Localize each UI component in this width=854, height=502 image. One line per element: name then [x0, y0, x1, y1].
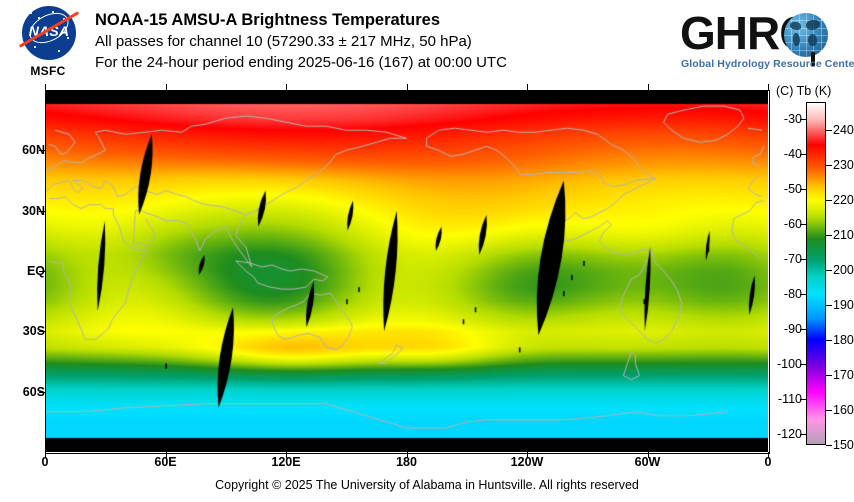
longitude-tick-label: 0 — [765, 455, 772, 469]
colorbar-kelvin-tick — [826, 410, 832, 411]
colorbar-kelvin-tick — [826, 375, 832, 376]
colorbar-celsius-tick — [800, 399, 806, 400]
longitude-tick-mark — [45, 452, 46, 458]
colorbar-celsius-label: -120 — [777, 427, 802, 441]
colorbar-celsius-tick — [800, 224, 806, 225]
colorbar-celsius-tick — [800, 294, 806, 295]
latitude-tick-mark — [39, 271, 45, 272]
colorbar: (C) Tb (K) 24023022021020019018017016015… — [776, 84, 854, 464]
colorbar-kelvin-label: 240 — [833, 123, 854, 137]
page-header: NASA MSFC NOAA-15 AMSU-A Brightness Temp… — [0, 0, 854, 88]
colorbar-celsius-tick — [800, 154, 806, 155]
colorbar-celsius-tick — [800, 119, 806, 120]
latitude-tick-mark — [39, 392, 45, 393]
brightness-temperature-heatmap[interactable] — [45, 90, 768, 452]
colorbar-celsius-label: -100 — [777, 357, 802, 371]
colorbar-celsius-tick — [800, 259, 806, 260]
title-block: NOAA-15 AMSU-A Brightness Temperatures A… — [95, 9, 507, 73]
latitude-tick-mark — [39, 331, 45, 332]
colorbar-kelvin-label: 200 — [833, 263, 854, 277]
page-title: NOAA-15 AMSU-A Brightness Temperatures — [95, 9, 507, 31]
longitude-tick-mark — [407, 452, 408, 458]
longitude-tick-label: 180 — [396, 455, 417, 469]
colorbar-kelvin-tick — [826, 305, 832, 306]
longitude-tick-mark — [527, 452, 528, 458]
colorbar-kelvin-tick — [826, 235, 832, 236]
colorbar-kelvin-tick — [826, 270, 832, 271]
ghrc-tagline: Global Hydrology Resource Center — [681, 58, 854, 70]
channel-subtitle: All passes for channel 10 (57290.33 ± 21… — [95, 31, 507, 52]
map-plot-area[interactable] — [45, 90, 768, 452]
colorbar-celsius-tick — [800, 364, 806, 365]
copyright-footer: Copyright © 2025 The University of Alaba… — [0, 478, 854, 492]
colorbar-kelvin-tick — [826, 130, 832, 131]
colorbar-celsius-tick — [800, 434, 806, 435]
longitude-tick-label: 60E — [154, 455, 176, 469]
colorbar-gradient — [807, 103, 825, 444]
colorbar-bar — [806, 102, 826, 445]
colorbar-celsius-tick — [800, 329, 806, 330]
ghrc-logo: GHRC Global Hydrology Resource Center — [680, 8, 840, 80]
latitude-axis: 60N30NEQ30S60S — [0, 0, 45, 502]
colorbar-kelvin-tick — [826, 340, 832, 341]
longitude-tick-mark — [768, 452, 769, 458]
colorbar-kelvin-label: 190 — [833, 298, 854, 312]
colorbar-kelvin-label: 230 — [833, 158, 854, 172]
colorbar-celsius-tick — [800, 189, 806, 190]
longitude-tick-label: 120W — [511, 455, 544, 469]
latitude-tick-mark — [39, 150, 45, 151]
colorbar-kelvin-tick — [826, 200, 832, 201]
colorbar-kelvin-tick — [826, 445, 832, 446]
colorbar-kelvin-label: 180 — [833, 333, 854, 347]
colorbar-header: (C) Tb (K) — [776, 84, 854, 98]
longitude-tick-mark — [648, 452, 649, 458]
colorbar-kelvin-label: 220 — [833, 193, 854, 207]
colorbar-kelvin-label: 170 — [833, 368, 854, 382]
colorbar-celsius-label: -110 — [778, 392, 802, 406]
longitude-tick-mark — [286, 452, 287, 458]
longitude-tick-label: 120E — [271, 455, 300, 469]
colorbar-kelvin-tick — [826, 165, 832, 166]
longitude-tick-mark — [166, 452, 167, 458]
longitude-tick-label: 60W — [635, 455, 661, 469]
latitude-tick-mark — [39, 211, 45, 212]
colorbar-kelvin-label: 150 — [833, 438, 854, 452]
colorbar-kelvin-label: 210 — [833, 228, 854, 242]
period-subtitle: For the 24-hour period ending 2025-06-16… — [95, 52, 507, 73]
globe-icon — [784, 13, 828, 57]
colorbar-kelvin-label: 160 — [833, 403, 854, 417]
